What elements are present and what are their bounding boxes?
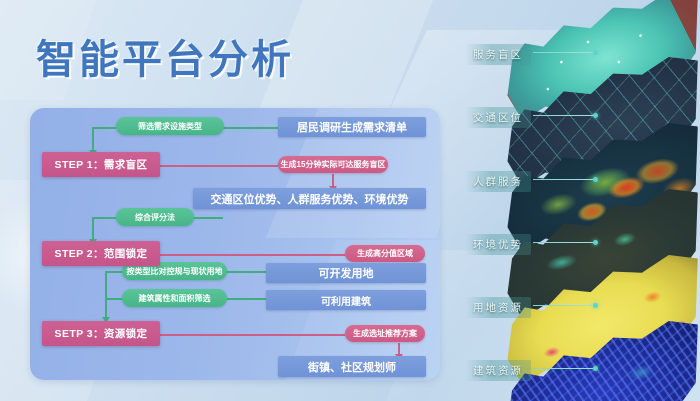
method-pill-filter-facility-type[interactable]: 筛选需求设施类型 (116, 117, 224, 135)
method-label: 建筑属性和面积筛选 (139, 293, 211, 304)
page-title: 智能平台分析 (36, 27, 294, 85)
output-box-resident-survey-demand-list[interactable]: 居民调研生成需求清单 (278, 117, 426, 137)
step-label: SETP 3：资源锁定 (55, 326, 148, 341)
connector-methods-trunk (105, 271, 107, 319)
output-box-developable-land[interactable]: 可开发用地 (266, 263, 426, 283)
map-layer-label-population-service: 人群服务 (465, 171, 531, 192)
method-pill-composite-scoring[interactable]: 综合评分法 (116, 208, 194, 226)
leader-line-building-resource (533, 368, 595, 369)
connector-method1-to-output1 (223, 127, 278, 129)
connector-step3-to-gen3 (160, 334, 345, 336)
output-label: 街镇、社区规划师 (308, 359, 396, 375)
connector-method1-to-step1-vertical (92, 127, 94, 152)
map-layer-label-transport-location: 交通区位 (465, 107, 531, 128)
connector-method2-to-step2-vertical (92, 217, 94, 241)
generator-pill-high-score-area[interactable]: 生成高分值区域 (345, 245, 425, 262)
leader-line-land-resource (533, 305, 595, 306)
leader-dot-land-resource (593, 303, 598, 308)
output-label: 可利用建筑 (321, 293, 371, 308)
connector-method3-to-output3 (226, 271, 266, 273)
output-box-planner[interactable]: 街镇、社区规划师 (278, 356, 426, 377)
leader-line-service-blindspot (533, 52, 595, 53)
method-label: 筛选需求设施类型 (138, 121, 202, 132)
generator-pill-15min-blindspot[interactable]: 生成15分钟实际可达服务盲区 (278, 156, 388, 173)
step-box-1-demand-blindspot[interactable]: STEP 1：需求盲区 (42, 152, 160, 177)
flowchart-panel: 筛选需求设施类型 综合评分法 按类型比对控规与现状用地 建筑属性和面积筛选 ST… (30, 108, 440, 380)
connector-step1-to-gen1 (160, 165, 278, 167)
connector-method4-to-output4 (226, 298, 266, 300)
generator-label: 生成高分值区域 (357, 248, 413, 259)
connector-method4-stub (105, 298, 123, 300)
connector-method3-stub (105, 271, 123, 273)
output-label: 居民调研生成需求清单 (297, 119, 407, 135)
connector-step2-to-gen2 (160, 254, 345, 256)
map-layer-label-service-blindspot: 服务盲区 (465, 44, 531, 65)
presentation-slide: 智能平台分析 (0, 0, 700, 401)
connector-method2-stub-right (193, 217, 223, 219)
map-layer-stack: 服务盲区 交通区位 人群服务 环境优势 用地资源 建筑资源 (500, 0, 700, 401)
connector-method1-stub-left (92, 127, 116, 129)
map-layer-label-building-resource: 建筑资源 (465, 360, 531, 381)
map-layer-label-land-resource: 用地资源 (465, 297, 531, 318)
leader-dot-building-resource (593, 366, 598, 371)
map-layer-label-environment-advantage: 环境优势 (465, 234, 531, 255)
output-box-advantages[interactable]: 交通区位优势、人群服务优势、环境优势 (193, 188, 426, 209)
leader-line-population-service (533, 179, 595, 180)
step-box-2-scope-lock[interactable]: STEP 2：范围锁定 (42, 241, 160, 266)
leader-line-environment-advantage (533, 242, 595, 243)
leader-dot-population-service (593, 177, 598, 182)
step-label: STEP 1：需求盲区 (55, 157, 148, 172)
output-label: 可开发用地 (319, 265, 374, 281)
step-label: STEP 2：范围锁定 (55, 246, 148, 261)
method-label: 按类型比对控规与现状用地 (127, 266, 223, 277)
step-box-3-resource-lock[interactable]: SETP 3：资源锁定 (42, 321, 160, 346)
generator-pill-site-recommendation[interactable]: 生成选址推荐方案 (345, 325, 425, 342)
output-box-usable-building[interactable]: 可利用建筑 (266, 290, 426, 310)
generator-label: 生成选址推荐方案 (353, 328, 417, 339)
output-label: 交通区位优势、人群服务优势、环境优势 (211, 191, 409, 207)
connector-method2-stub-left (92, 217, 116, 219)
leader-line-transport-location (533, 115, 595, 116)
leader-dot-environment-advantage (593, 240, 598, 245)
method-pill-building-attribute-filter[interactable]: 建筑属性和面积筛选 (122, 289, 227, 307)
leader-dot-service-blindspot (593, 50, 598, 55)
leader-dot-transport-location (593, 113, 598, 118)
generator-label: 生成15分钟实际可达服务盲区 (281, 159, 386, 170)
method-label: 综合评分法 (135, 212, 175, 223)
